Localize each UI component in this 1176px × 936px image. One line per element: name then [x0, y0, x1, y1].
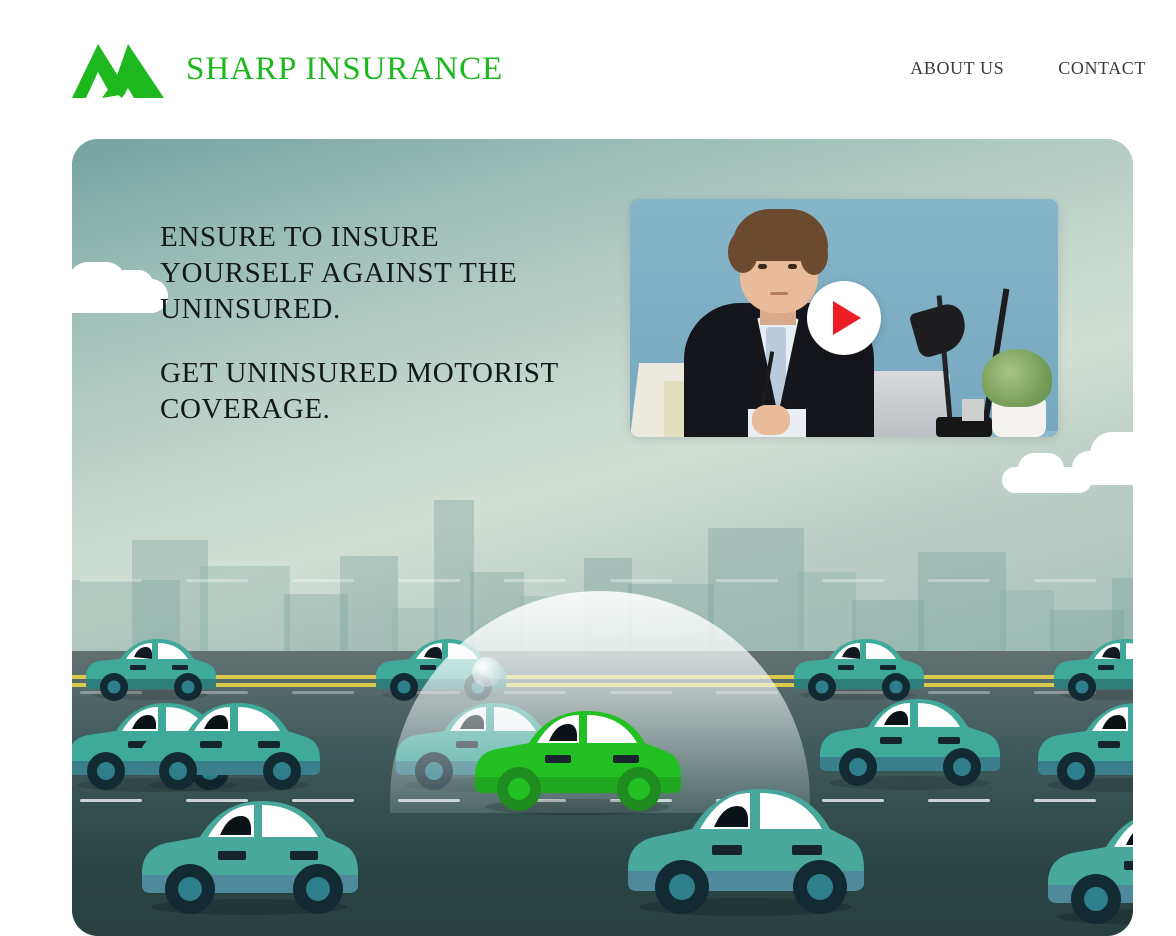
- primary-nav: ABOUT US CONTACT: [910, 58, 1146, 79]
- dome-highlight-icon: [472, 657, 502, 687]
- hero-headline-secondary: GET UNINSURED MOTORIST COVERAGE.: [160, 355, 590, 427]
- pen-cup: [962, 399, 984, 421]
- hero-copy: ENSURE TO INSURE YOURSELF AGAINST THE UN…: [160, 219, 590, 427]
- mountain-logo-icon: [72, 38, 164, 100]
- play-triangle-icon: [833, 301, 861, 335]
- road-dash-row: [72, 579, 1133, 582]
- nav-link-about-us[interactable]: ABOUT US: [910, 58, 1004, 79]
- traffic-car: [1040, 789, 1133, 929]
- site-header: SHARP INSURANCE ABOUT US CONTACT: [0, 0, 1176, 139]
- hero-headline-primary: ENSURE TO INSURE YOURSELF AGAINST THE UN…: [160, 219, 590, 327]
- brand-lockup[interactable]: SHARP INSURANCE: [72, 38, 503, 100]
- play-button[interactable]: [807, 281, 881, 355]
- hero-video-thumbnail[interactable]: [630, 199, 1058, 437]
- nav-link-contact[interactable]: CONTACT: [1058, 58, 1146, 79]
- page-root: SHARP INSURANCE ABOUT US CONTACT: [0, 0, 1176, 936]
- plant-foliage: [982, 349, 1052, 407]
- brand-name: SHARP INSURANCE: [186, 51, 503, 88]
- traffic-car: [134, 779, 364, 919]
- cloud-icon: [72, 279, 168, 313]
- hero-banner: ENSURE TO INSURE YOURSELF AGAINST THE UN…: [72, 139, 1133, 936]
- traffic-car: [620, 769, 870, 919]
- traffic-car: [1032, 685, 1133, 795]
